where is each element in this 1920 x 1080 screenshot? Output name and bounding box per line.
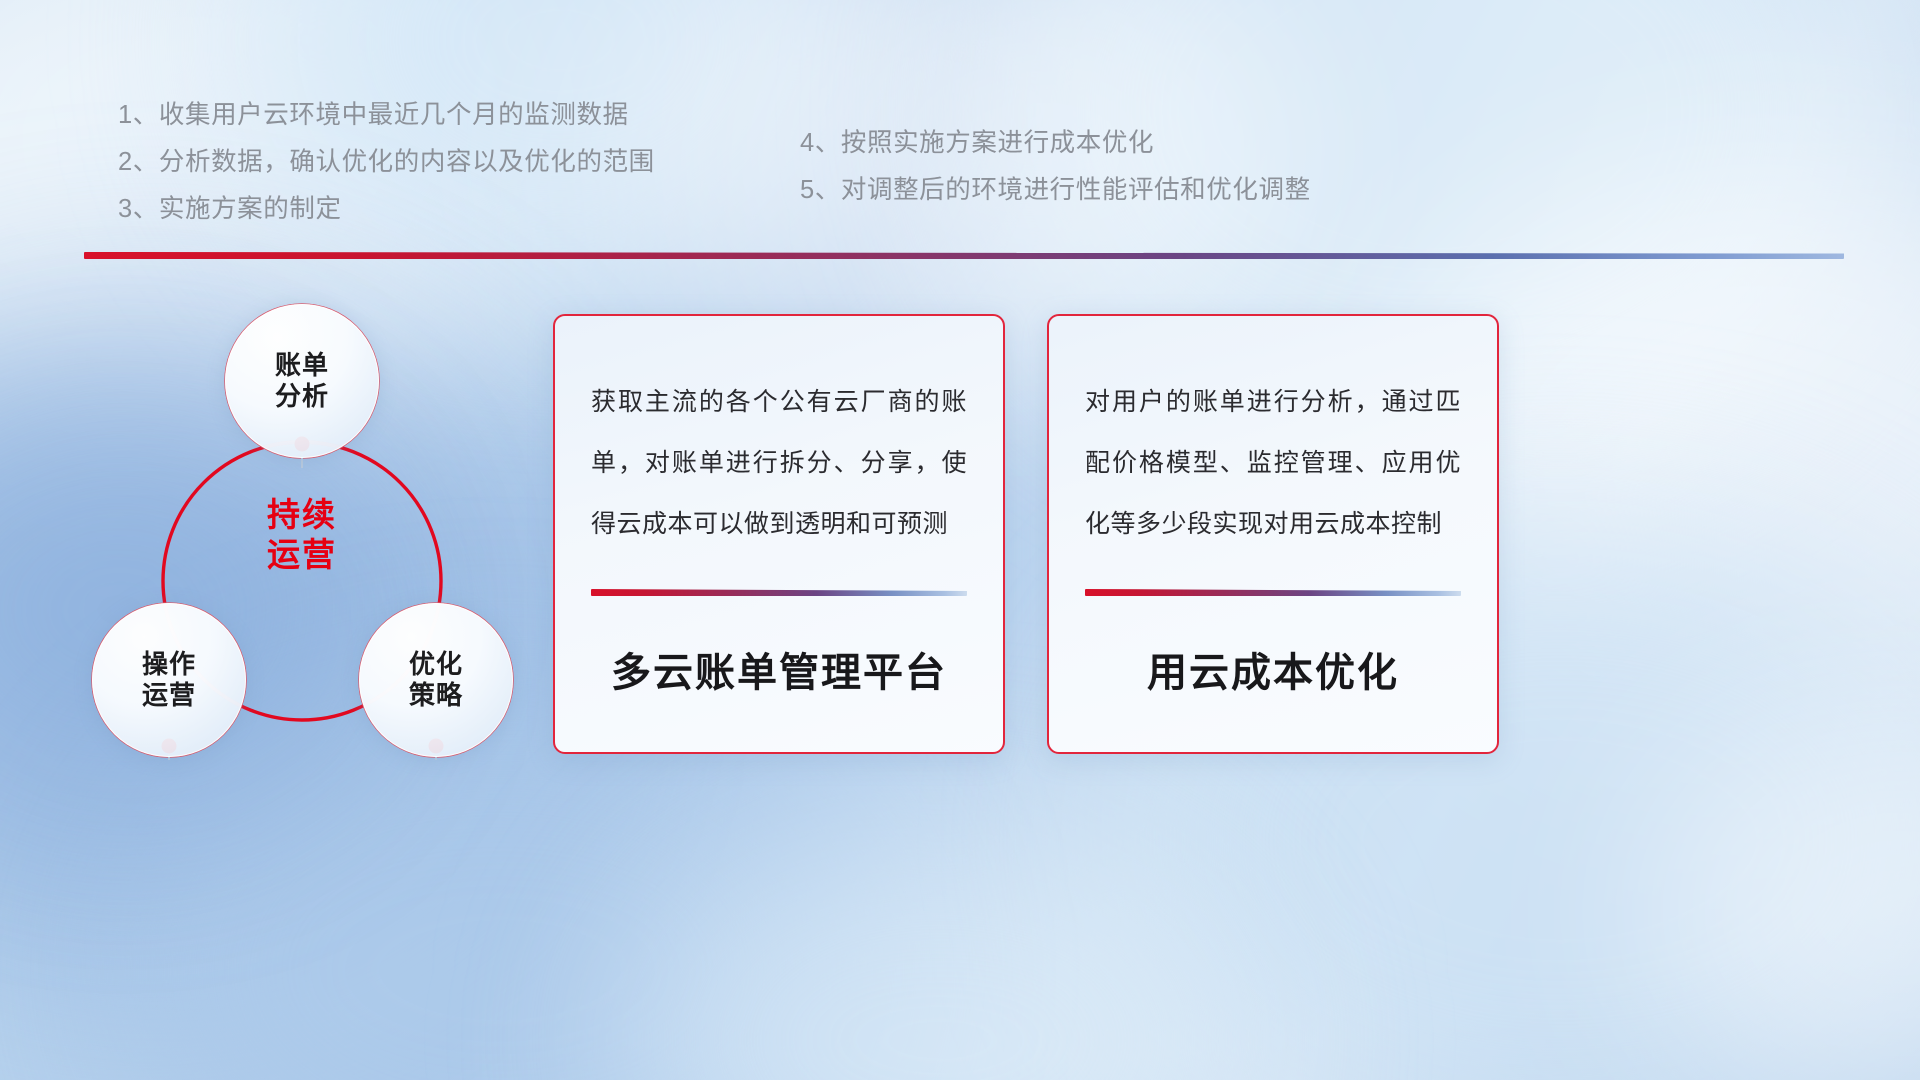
venn-node-label-line1: 优化: [409, 649, 463, 680]
card-body-text: 对用户的账单进行分析，通过匹配价格模型、监控管理、应用优化等多少段实现对用云成本…: [1085, 372, 1461, 555]
card-divider-rule: [1085, 589, 1461, 596]
card-title: 用云成本优化: [1085, 596, 1461, 752]
step-item: 5、对调整后的环境进行性能评估和优化调整: [800, 167, 1311, 214]
steps-list-right: 4、按照实施方案进行成本优化 5、对调整后的环境进行性能评估和优化调整: [800, 120, 1311, 214]
continuous-operations-diagram: 账单 分析 操作 运营 优化 策略 持续 运营: [78, 290, 548, 780]
step-item: 2、分析数据，确认优化的内容以及优化的范围: [118, 139, 655, 186]
venn-node-label-line2: 分析: [275, 381, 329, 412]
step-item: 3、实施方案的制定: [118, 186, 655, 233]
card-title: 多云账单管理平台: [591, 596, 967, 752]
venn-node-label-line1: 操作: [142, 649, 196, 680]
card-cloud-cost-optimization[interactable]: 对用户的账单进行分析，通过匹配价格模型、监控管理、应用优化等多少段实现对用云成本…: [1047, 314, 1499, 754]
step-item: 1、收集用户云环境中最近几个月的监测数据: [118, 92, 655, 139]
card-multi-cloud-billing-platform[interactable]: 获取主流的各个公有云厂商的账单，对账单进行拆分、分享，使得云成本可以做到透明和可…: [553, 314, 1005, 754]
venn-node-billing-analysis[interactable]: 账单 分析: [225, 304, 379, 458]
steps-list-left: 1、收集用户云环境中最近几个月的监测数据 2、分析数据，确认优化的内容以及优化的…: [118, 92, 655, 233]
step-item: 4、按照实施方案进行成本优化: [800, 120, 1311, 167]
venn-node-label-line2: 运营: [142, 680, 196, 711]
venn-node-label-line2: 策略: [409, 680, 463, 711]
card-divider-rule: [591, 589, 967, 596]
venn-node-optimization-strategy[interactable]: 优化 策略: [359, 603, 513, 757]
venn-node-label-line1: 账单: [275, 350, 329, 381]
venn-node-operations[interactable]: 操作 运营: [92, 603, 246, 757]
card-body-text: 获取主流的各个公有云厂商的账单，对账单进行拆分、分享，使得云成本可以做到透明和可…: [591, 372, 967, 555]
